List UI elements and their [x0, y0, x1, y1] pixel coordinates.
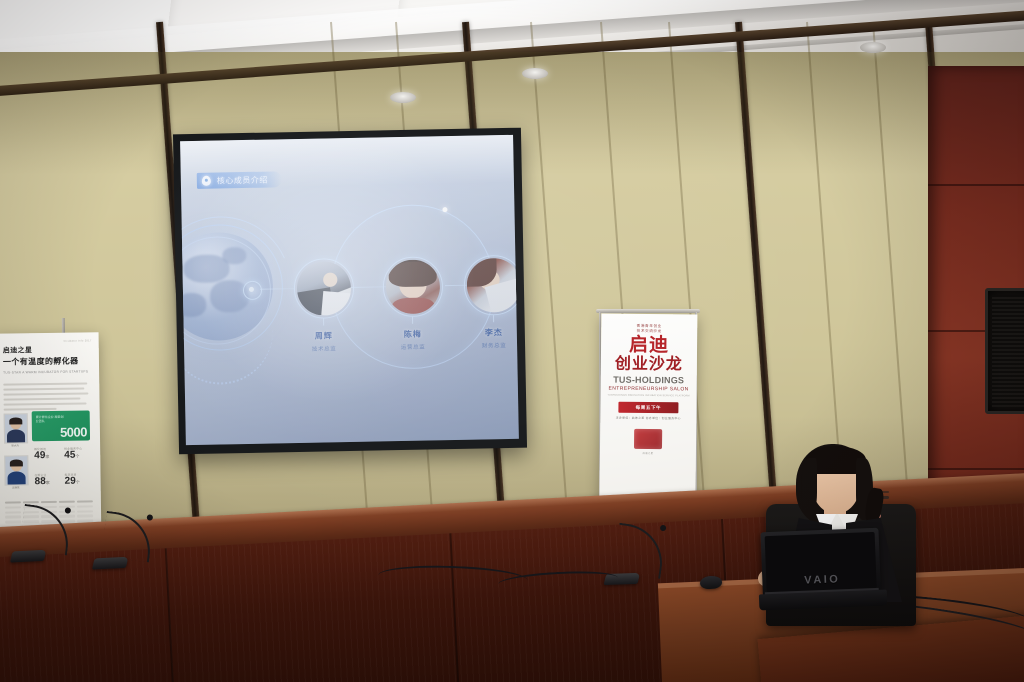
banner-red-bar: 每周五下午 — [618, 402, 678, 414]
banner-red-bar-text: 每周五下午 — [636, 404, 662, 410]
downlight-icon — [860, 42, 886, 53]
microphone-2 — [91, 510, 154, 569]
downlight-icon — [522, 68, 548, 79]
banner-fine-print: TUSHOLDINGS INNOVATION INCUBATION SERVIC… — [601, 394, 697, 398]
poster-stat-2-unit: 个 — [75, 454, 79, 459]
banner-meta-line: 主办单位：启迪之星 协办单位：创业服务中心 — [600, 415, 696, 420]
poster-corner-note: Incubator Info 2017 — [64, 339, 92, 342]
poster-stat-3: 在孵企业 88家 — [35, 473, 50, 488]
red-seal-stamp-icon — [634, 429, 662, 449]
poster-highlight-box: 累计孵化企业 服务创业团队 5000 — [32, 410, 90, 441]
poster-stat-2: 创业服务中心 45个 — [64, 447, 82, 462]
poster-stat-3-value: 88 — [35, 476, 46, 487]
poster-person-2 — [4, 455, 28, 485]
presentation-slide: 周辉 技术总监 陈梅 运营总监 李杰 财 — [180, 135, 519, 445]
poster-stat-3-unit: 家 — [46, 480, 50, 485]
banner-title-cn-2: 创业沙龙 — [601, 356, 697, 374]
poster-stat-4: 投资项目 29个 — [65, 473, 80, 488]
wall-speaker-icon — [985, 288, 1024, 414]
laptop-brand-logo: VAIO — [804, 573, 841, 586]
poster-person-1 — [4, 413, 28, 443]
poster-heading-line1: 启迪之星 — [3, 344, 91, 355]
banner-title-cn-1: 启迪 — [601, 336, 697, 357]
downlight-icon — [390, 92, 416, 103]
poster-stat-1-unit: 家 — [45, 454, 49, 459]
poster-person-2-name: 王晓东 — [5, 485, 27, 489]
poster-stat-1: 孵化基地 49家 — [34, 447, 49, 462]
laptop-computer[interactable]: VAIO — [756, 528, 887, 615]
banner-seal-caption: 启迪之星 — [600, 450, 696, 455]
conference-room-scene: 周辉 技术总监 陈梅 运营总监 李杰 财 — [0, 0, 1024, 682]
microphone-1 — [9, 503, 72, 562]
poster-person-1-name: 张大为 — [4, 443, 26, 447]
poster-stat-1-value: 49 — [34, 450, 45, 461]
poster-body-text — [3, 382, 91, 413]
projection-screen: 周辉 技术总监 陈梅 运营总监 李杰 财 — [173, 128, 527, 455]
poster-stat-2-value: 45 — [64, 450, 75, 461]
poster-stat-4-value: 29 — [65, 476, 76, 487]
banner-eyebrow-line2: 技术交流沙龙 — [601, 329, 697, 335]
poster-heading-line2: 一个有温度的孵化器 — [3, 355, 91, 367]
banner-subtitle-en: ENTREPRENEURSHIP SALON — [601, 386, 697, 393]
banner-title-en: TUS-HOLDINGS — [601, 375, 697, 386]
poster-highlight-number: 5000 — [60, 424, 87, 439]
poster-subheading: TUS-STAR A WARM INCUBATOR FOR STARTUPS — [3, 369, 91, 374]
poster-stat-4-unit: 个 — [76, 480, 80, 485]
poster-highlight-caption: 累计孵化企业 服务创业团队 — [36, 415, 66, 424]
banner-top-bar — [596, 309, 700, 313]
